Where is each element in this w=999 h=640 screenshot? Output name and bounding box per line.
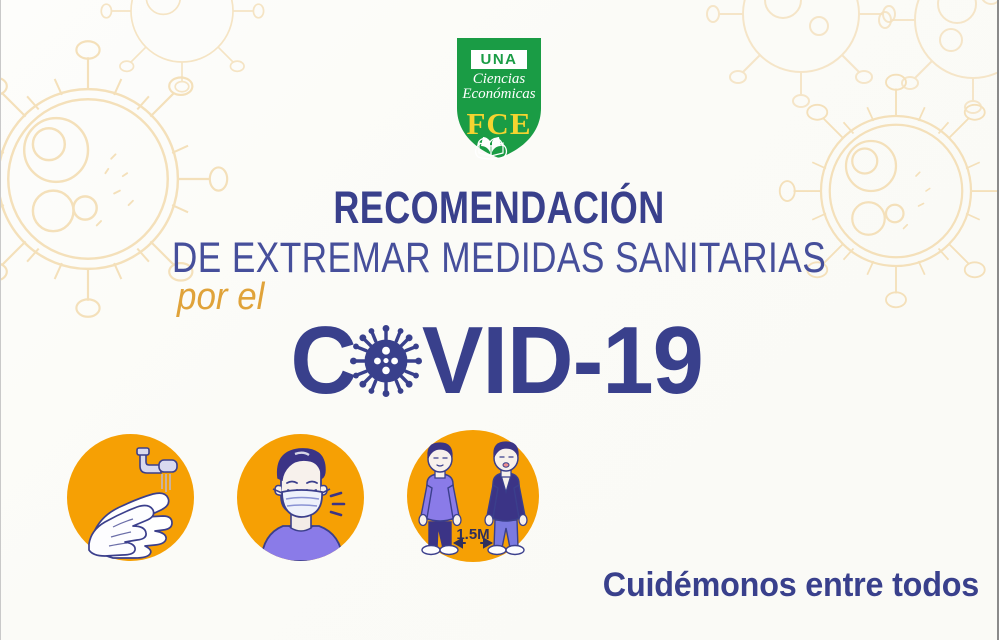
slogan-text: Cuidémonos entre todos (603, 566, 979, 605)
handwashing-icon (67, 434, 194, 561)
fce-una-logo: UNA Ciencias Económicas FCE (453, 34, 545, 160)
face-mask-icon (237, 434, 364, 561)
covid-title: C (1, 313, 997, 409)
person-left (419, 443, 461, 555)
covid-title-prefix: C (291, 313, 357, 409)
headline-line-1: RECOMENDACIÓN (101, 182, 898, 234)
distance-illustration: 1.5M (407, 430, 539, 562)
masked-person-illustration (237, 434, 364, 561)
book-and-laurel-emblem (472, 134, 526, 160)
handwashing-illustration (67, 434, 194, 561)
social-distancing-icon: 1.5M (407, 430, 539, 562)
logo-banner: UNA (471, 50, 527, 69)
logo-banner-text: UNA (481, 51, 518, 68)
logo-container: UNA Ciencias Económicas FCE (1, 34, 997, 160)
covid-recommendation-poster: UNA Ciencias Económicas FCE RECOMENDACIÓ… (0, 0, 999, 640)
logo-line2: Económicas (453, 87, 545, 103)
person-right (485, 442, 527, 555)
coronavirus-icon (350, 313, 422, 409)
covid-title-suffix: VID-19 (422, 313, 703, 409)
distance-label: 1.5M (456, 526, 489, 543)
